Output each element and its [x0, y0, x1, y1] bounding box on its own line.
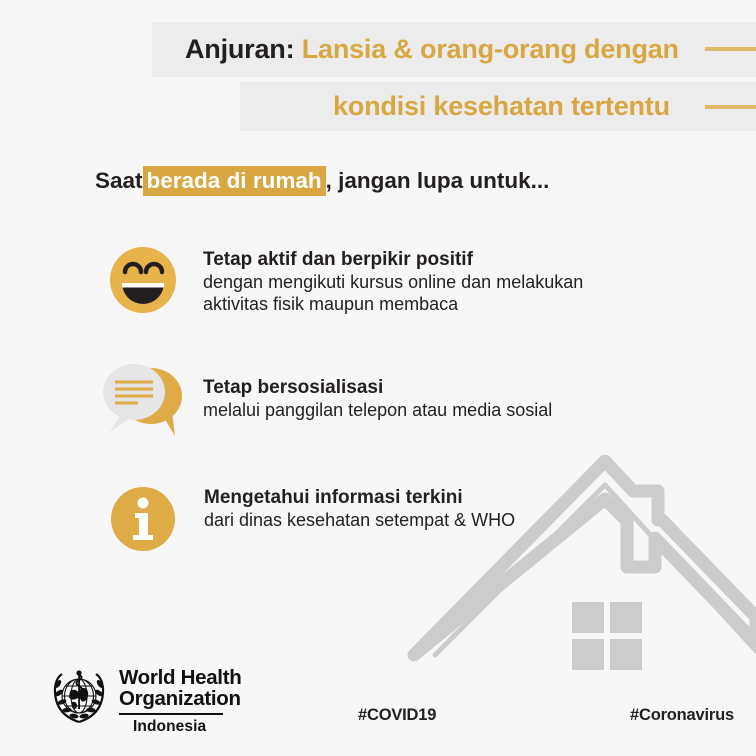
who-country-label: Indonesia	[119, 718, 241, 736]
infographic-canvas: Anjuran: Lansia & orang-orang dengan kon…	[0, 0, 756, 756]
header-audience: Lansia & orang-orang dengan	[302, 34, 679, 64]
header-band-secondary: kondisi kesehatan tertentu	[240, 82, 756, 131]
advice-item-stay-active: Tetap aktif dan berpikir positif dengan …	[103, 240, 583, 325]
who-name-line1: World Health	[119, 668, 241, 689]
hashtag-covid19: #COVID19	[358, 706, 436, 725]
rod-of-asclepius	[76, 670, 81, 709]
hashtag-coronavirus: #Coronavirus	[630, 706, 734, 725]
advice-item-socialise: Tetap bersosialisasi melalui panggilan t…	[100, 358, 552, 445]
who-logo: World Health Organization Indonesia	[48, 666, 241, 736]
item-title: Mengetahui informasi terkini	[204, 487, 515, 509]
who-wordmark: World Health Organization Indonesia	[119, 666, 241, 736]
header-prefix: Anjuran:	[185, 34, 294, 64]
who-name-line2: Organization	[119, 689, 241, 710]
header-dash-2	[705, 105, 756, 109]
advice-text-stay-active: Tetap aktif dan berpikir positif dengan …	[203, 240, 583, 316]
header-dash-1	[705, 47, 756, 51]
information-icon	[105, 481, 181, 562]
subtitle-line: Saatberada di rumah, jangan lupa untuk..…	[95, 168, 549, 194]
item-description: dari dinas kesehatan setempat & WHO	[204, 510, 515, 532]
speech-bubbles-icon	[100, 358, 190, 445]
subtitle-before: Saat	[95, 168, 143, 193]
item-description: dengan mengikuti kursus online dan melak…	[203, 272, 583, 316]
subtitle-after: , jangan lupa untuk...	[326, 168, 550, 193]
house-window-panes	[572, 602, 642, 670]
advice-item-stay-informed: Mengetahui informasi terkini dari dinas …	[105, 481, 515, 562]
smiley-face-icon	[103, 240, 183, 325]
item-description: melalui panggilan telepon atau media sos…	[203, 400, 552, 422]
subtitle-highlight: berada di rumah	[143, 166, 326, 196]
advice-text-socialise: Tetap bersosialisasi melalui panggilan t…	[203, 358, 552, 422]
header-band-primary: Anjuran: Lansia & orang-orang dengan	[152, 22, 756, 77]
header-line-2: kondisi kesehatan tertentu	[333, 91, 670, 122]
advice-text-stay-informed: Mengetahui informasi terkini dari dinas …	[204, 481, 515, 532]
who-underline	[119, 713, 223, 715]
header-line-1: Anjuran: Lansia & orang-orang dengan	[185, 34, 679, 65]
item-title: Tetap bersosialisasi	[203, 377, 552, 399]
item-title: Tetap aktif dan berpikir positif	[203, 249, 583, 271]
who-emblem-icon	[48, 666, 110, 728]
